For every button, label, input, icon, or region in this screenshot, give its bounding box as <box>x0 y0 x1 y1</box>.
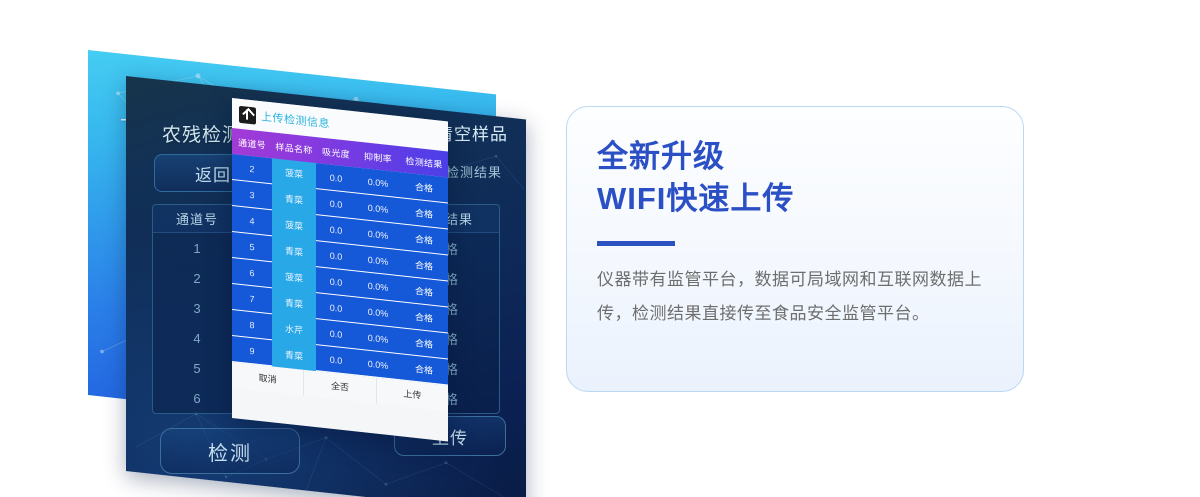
cell-channel: 5 <box>232 240 272 254</box>
dialog-table-body: 2 菠菜 0.0 0.0% 合格 3 青菜 0.0 0.0% 合格 4 <box>232 154 448 385</box>
cell-channel: 2 <box>153 271 241 286</box>
cell-result: 合格 <box>400 334 448 352</box>
col-sample-name: 样品名称 <box>272 139 316 157</box>
upload-info-dialog: 上传检测信息 通道号 样品名称 吸光度 抑制率 检测结果 2 菠菜 0.0 0.… <box>232 98 448 441</box>
card-heading-line2: WIFI快速上传 <box>597 179 794 219</box>
cell-channel: 7 <box>232 292 272 306</box>
cell-channel: 6 <box>153 391 241 406</box>
cell-inhibition: 0.0% <box>356 279 400 294</box>
cell-absorbance: 0.0 <box>316 301 356 315</box>
cell-absorbance: 0.0 <box>316 223 356 237</box>
cell-result: 合格 <box>400 308 448 326</box>
cell-inhibition: 0.0% <box>356 305 400 320</box>
cell-channel: 5 <box>153 361 241 376</box>
cell-result: 合格 <box>400 282 448 300</box>
card-body-text: 仪器带有监管平台，数据可局域网和互联网数据上传，检测结果直接传至食品安全监管平台… <box>597 263 995 331</box>
cell-channel: 3 <box>232 188 272 202</box>
cell-channel: 6 <box>232 266 272 280</box>
cell-result: 合格 <box>400 204 448 222</box>
upload-icon <box>239 105 256 124</box>
col-absorbance: 吸光度 <box>316 144 356 161</box>
screen-col-channel: 通道号 <box>153 209 241 228</box>
cell-sample-name: 青菜 <box>272 340 316 371</box>
screenshot-root: 上传设置 农残检测 <box>0 0 1200 497</box>
cell-result: 合格 <box>400 230 448 248</box>
cell-channel: 8 <box>232 318 272 332</box>
cell-channel: 1 <box>153 241 241 256</box>
cell-inhibition: 0.0% <box>356 227 400 242</box>
cell-absorbance: 0.0 <box>316 197 356 211</box>
card-heading-line1: 全新升级 <box>597 137 725 177</box>
cell-absorbance: 0.0 <box>316 249 356 263</box>
cell-inhibition: 0.0% <box>356 175 400 190</box>
device-visual: 上传设置 农残检测 <box>0 0 560 497</box>
cell-channel: 9 <box>232 344 272 358</box>
cell-inhibition: 0.0% <box>356 357 400 372</box>
cell-absorbance: 0.0 <box>316 327 356 341</box>
cell-result: 合格 <box>400 256 448 274</box>
col-result: 检测结果 <box>400 153 448 171</box>
card-divider <box>597 241 675 246</box>
result-column-label: 检测结果 <box>446 162 502 181</box>
detect-button[interactable]: 检测 <box>160 428 300 474</box>
cell-channel: 4 <box>232 214 272 228</box>
cell-channel: 2 <box>232 162 272 176</box>
col-channel: 通道号 <box>232 135 272 152</box>
cell-channel: 4 <box>153 331 241 346</box>
cell-inhibition: 0.0% <box>356 201 400 216</box>
col-inhibition: 抑制率 <box>356 148 400 166</box>
cell-result: 合格 <box>400 178 448 196</box>
cell-absorbance: 0.0 <box>316 275 356 289</box>
cell-absorbance: 0.0 <box>316 353 356 367</box>
cell-inhibition: 0.0% <box>356 253 400 268</box>
screen-title: 农残检测 <box>162 120 242 147</box>
cell-channel: 3 <box>153 301 241 316</box>
feature-card: 全新升级 WIFI快速上传 仪器带有监管平台，数据可局域网和互联网数据上传，检测… <box>566 106 1024 392</box>
cell-result: 合格 <box>400 360 448 378</box>
cell-inhibition: 0.0% <box>356 331 400 346</box>
dialog-title: 上传检测信息 <box>261 108 330 131</box>
cell-absorbance: 0.0 <box>316 171 356 185</box>
